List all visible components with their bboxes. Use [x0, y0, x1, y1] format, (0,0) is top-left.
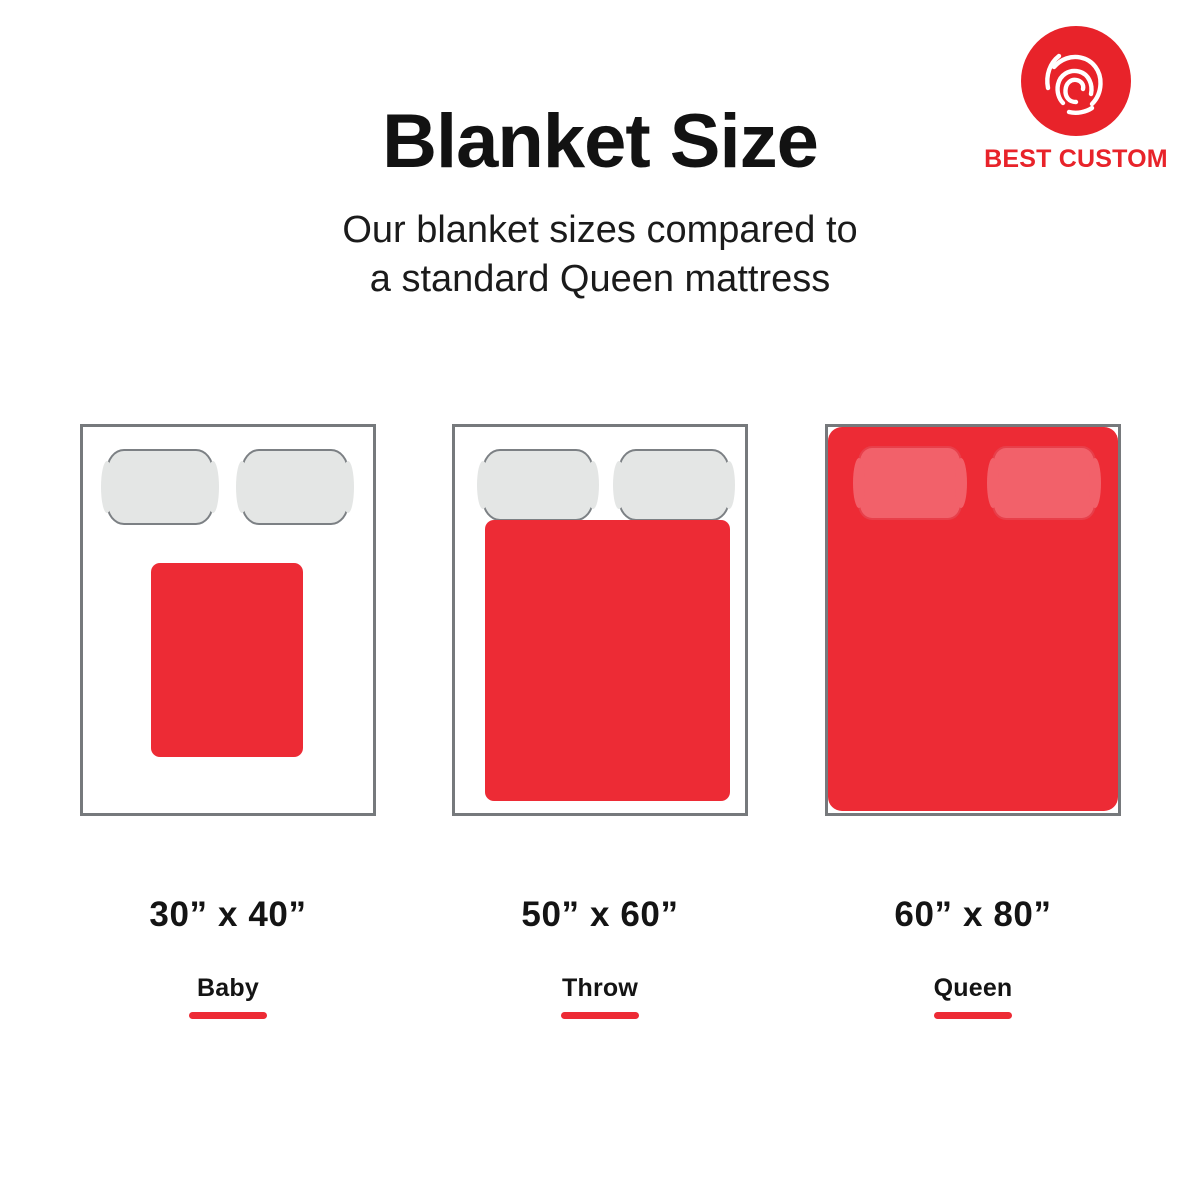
caption-underline	[189, 1012, 267, 1019]
bed-diagram-throw	[452, 424, 748, 816]
page-title: Blanket Size	[0, 104, 1200, 180]
caption-throw: 50” x 60” Throw	[430, 895, 770, 1019]
pillow-right	[618, 449, 730, 521]
caption-baby: 30” x 40” Baby	[58, 895, 398, 1019]
caption-dimensions: 50” x 60”	[430, 895, 770, 935]
caption-size-name: Throw	[430, 974, 770, 1003]
captions-row: 30” x 40” Baby 50” x 60” Throw 60” x 80”…	[0, 895, 1200, 1055]
caption-queen: 60” x 80” Queen	[803, 895, 1143, 1019]
pillow-left	[106, 449, 214, 525]
blanket-swatch-throw	[485, 520, 730, 801]
pillow-left	[858, 446, 962, 520]
caption-underline	[934, 1012, 1012, 1019]
pillow-right	[241, 449, 349, 525]
caption-size-name: Baby	[58, 974, 398, 1003]
caption-dimensions: 60” x 80”	[803, 895, 1143, 935]
pillow-right	[992, 446, 1096, 520]
bed-diagram-baby	[80, 424, 376, 816]
caption-underline	[561, 1012, 639, 1019]
bed-diagrams-row	[0, 424, 1200, 824]
bed-diagram-queen	[825, 424, 1121, 816]
caption-size-name: Queen	[803, 974, 1143, 1003]
page-subtitle-line-2: a standard Queen mattress	[0, 255, 1200, 304]
caption-dimensions: 30” x 40”	[58, 895, 398, 935]
pillow-left	[482, 449, 594, 521]
blanket-swatch-baby	[151, 563, 303, 757]
page-subtitle-line-1: Our blanket sizes compared to	[0, 206, 1200, 255]
heading-block: Blanket Size Our blanket sizes compared …	[0, 104, 1200, 303]
page-subtitle: Our blanket sizes compared to a standard…	[0, 206, 1200, 303]
